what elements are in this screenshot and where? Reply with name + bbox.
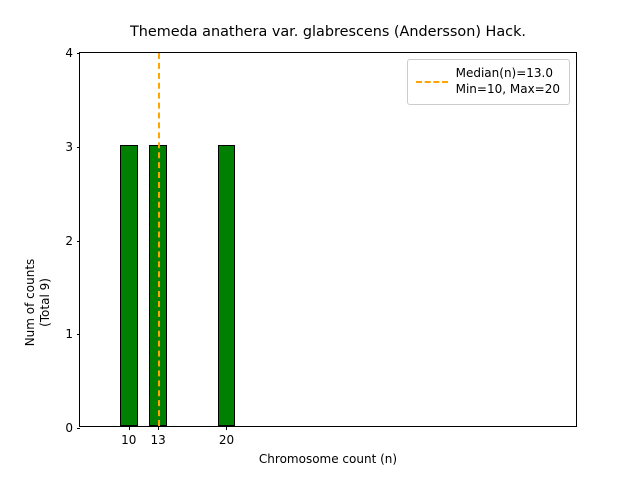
legend-median-line-icon	[416, 81, 448, 83]
x-tick-mark	[158, 426, 159, 430]
legend-box[interactable]: Median(n)=13.0 Min=10, Max=20	[407, 59, 570, 105]
y-tick-mark	[77, 241, 81, 242]
x-axis-label: Chromosome count (n)	[79, 452, 577, 466]
y-axis-label-wrapper: Num of counts (Total 9)	[23, 52, 45, 427]
y-tick-mark	[77, 428, 81, 429]
x-tick-label: 20	[219, 433, 234, 447]
bar	[218, 145, 236, 426]
x-tick-label: 13	[150, 433, 165, 447]
y-tick-label: 1	[65, 327, 73, 341]
plot-area	[80, 53, 576, 426]
plot-axes: 01234 101320 Median(n)=13.0 Min=10, Max=…	[79, 52, 577, 427]
figure-canvas: Themeda anathera var. glabrescens (Ander…	[0, 0, 640, 480]
x-tick-mark	[129, 426, 130, 430]
bar	[120, 145, 138, 426]
legend-label: Median(n)=13.0 Min=10, Max=20	[456, 66, 560, 98]
y-axis-label: Num of counts (Total 9)	[23, 115, 45, 490]
y-tick-mark	[77, 53, 81, 54]
y-tick-mark	[77, 147, 81, 148]
x-tick-mark	[226, 426, 227, 430]
y-tick-label: 0	[65, 421, 73, 435]
y-tick-label: 3	[65, 140, 73, 154]
y-tick-label: 4	[65, 46, 73, 60]
median-line	[158, 53, 160, 426]
chart-title: Themeda anathera var. glabrescens (Ander…	[79, 24, 577, 41]
x-tick-label: 10	[121, 433, 136, 447]
y-tick-mark	[77, 334, 81, 335]
y-tick-label: 2	[65, 234, 73, 248]
